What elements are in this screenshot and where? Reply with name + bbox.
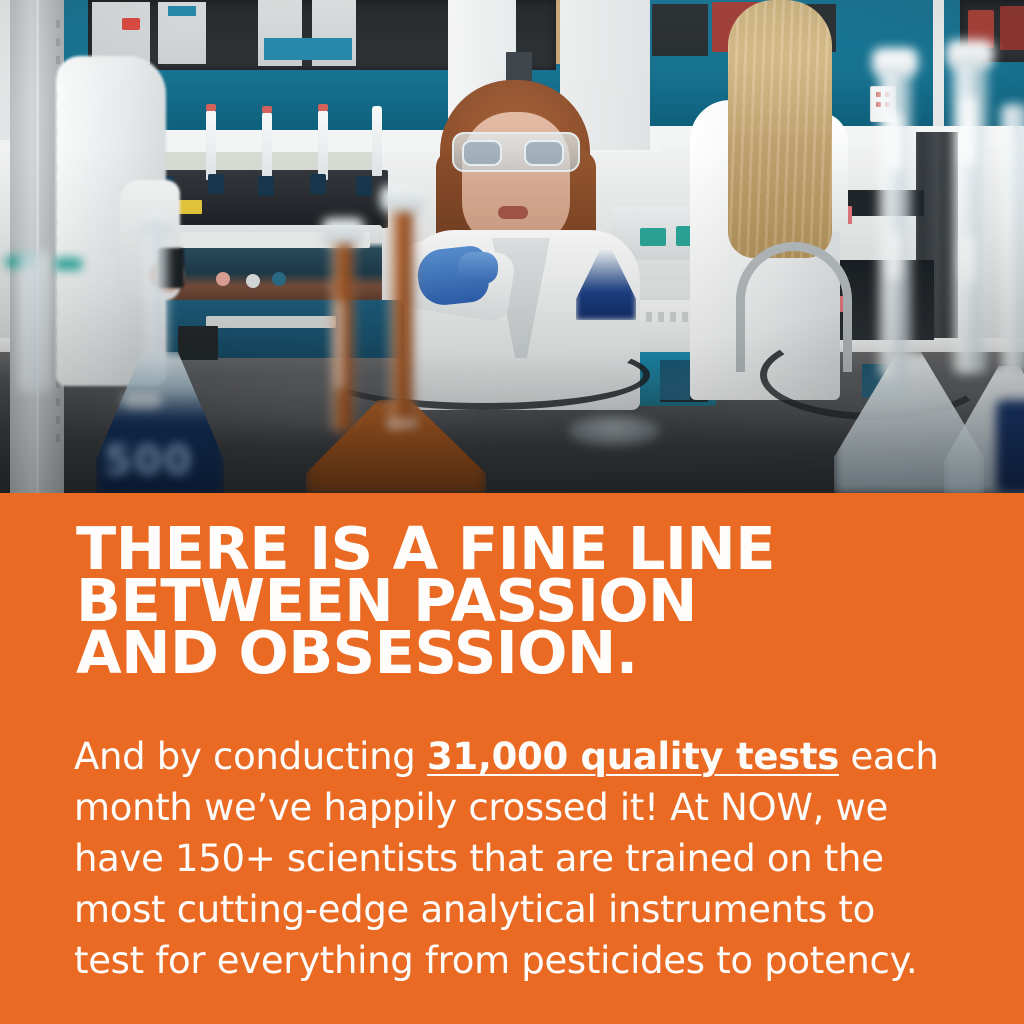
sample-vial-3: [258, 176, 274, 196]
pipette-cap-3: [262, 106, 272, 113]
clear-flask-highlight-3: [888, 230, 900, 280]
amber-flask-graduation-mark: [388, 420, 416, 427]
promo-card: 500 THERE IS A FINE LINE BETWEEN PASSION…: [0, 0, 1024, 1024]
cabinet-box-dark-1: [652, 4, 708, 56]
cabinet-box-red-1: [122, 18, 140, 30]
cabinet-label-blue-1: [168, 6, 196, 16]
scientist-right-hair-strands: [728, 0, 832, 258]
clear-flask-highlight-1: [888, 112, 902, 172]
foreground-bottle-right: [996, 400, 1024, 494]
orange-text-panel: THERE IS A FINE LINE BETWEEN PASSION AND…: [0, 493, 1024, 1024]
goggles-lens-right: [524, 140, 564, 166]
flask-500-neck: [146, 226, 168, 374]
amber-flask-cap-1: [322, 218, 364, 244]
amber-flask-cap-2: [380, 186, 424, 212]
amber-flask-neck-2: [388, 200, 416, 432]
clear-flask-highlight-2: [962, 96, 976, 166]
instrument-knob-3: [272, 272, 286, 286]
sample-vial-2: [208, 174, 224, 194]
clear-flask-highlight-4: [962, 236, 974, 284]
goggles-lens-left: [462, 140, 502, 166]
lab-photo: 500: [0, 0, 1024, 494]
flask-500-marking: 500: [104, 438, 192, 484]
cabinet-blue-bin: [264, 38, 352, 60]
pipette-cap-4: [318, 104, 328, 111]
scientist-center-mouth: [498, 206, 528, 219]
pipette-4: [318, 110, 328, 180]
clear-flask-cap-2: [946, 40, 994, 68]
bench-drawer-handle: [206, 316, 336, 328]
clear-flask-cap-1: [872, 48, 918, 76]
amber-flask-highlight: [334, 300, 344, 390]
pipette-2: [206, 110, 216, 180]
cabinet-box-white-1: [92, 2, 150, 64]
cabinet-box-dark-red-1: [1000, 6, 1024, 50]
quality-tests-highlight: 31,000 quality tests: [427, 735, 839, 778]
bottle-cap-teal-2: [54, 258, 82, 270]
body-copy-before: And by conducting: [74, 735, 427, 778]
bench-dark-object: [178, 326, 218, 360]
instrument-knob-2: [246, 274, 260, 288]
pipette-3: [262, 112, 272, 182]
instrument-knob-1: [216, 272, 230, 286]
equipment-teal-part-1: [640, 228, 666, 246]
pipette-5: [372, 106, 382, 176]
flask-500-highlight: [122, 392, 162, 408]
sample-vial-4: [310, 174, 326, 194]
petri-dish: [568, 416, 660, 446]
foreground-flask-left-edge: [18, 252, 52, 392]
page-title: THERE IS A FINE LINE BETWEEN PASSION AND…: [76, 523, 956, 679]
sample-vial-5: [356, 176, 372, 196]
pipette-cap-2: [206, 104, 216, 111]
clear-flask-neck-3: [1000, 104, 1024, 374]
blue-glove-fingers: [458, 252, 498, 284]
body-copy: And by conducting 31,000 quality tests e…: [74, 731, 954, 986]
